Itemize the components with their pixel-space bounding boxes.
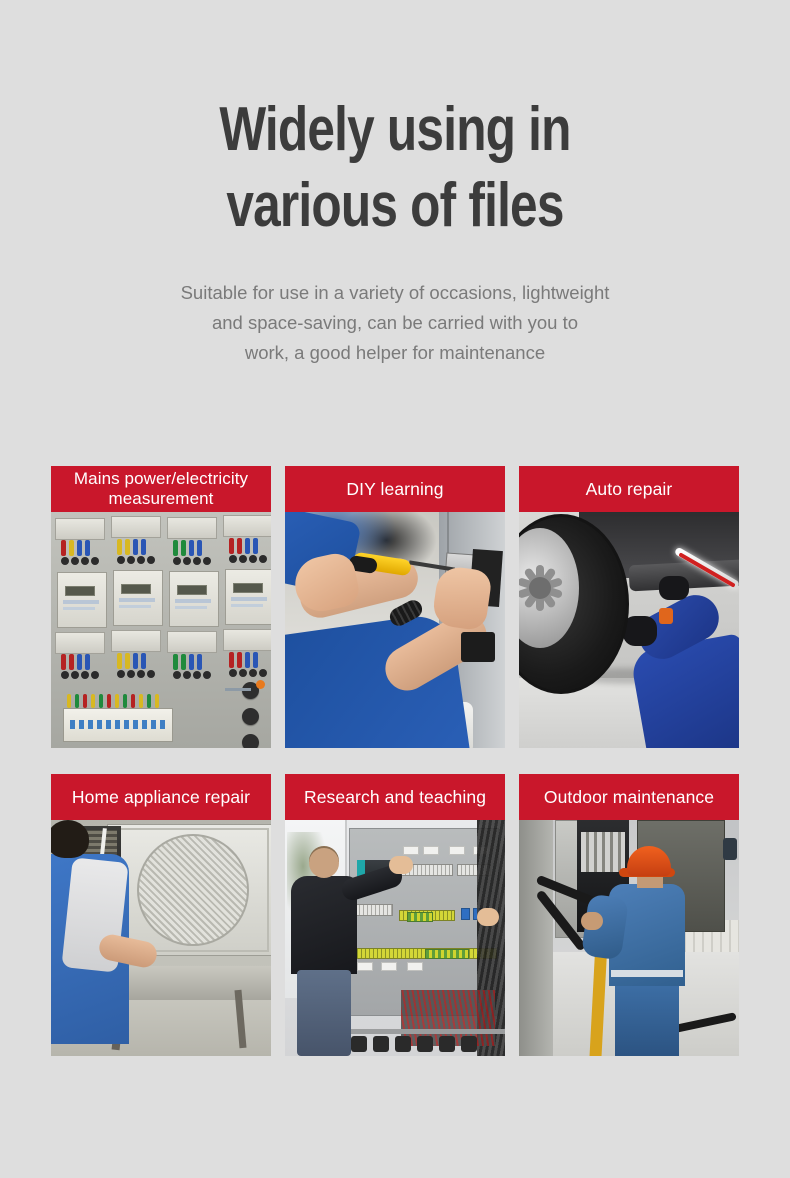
card-label: Auto repair xyxy=(586,479,673,500)
card-home-appliance-repair[interactable]: Home appliance repair xyxy=(51,774,271,1056)
card-banner-research-and-teaching: Research and teaching xyxy=(285,774,505,820)
card-diy-learning[interactable]: DIY learning xyxy=(285,466,505,748)
card-banner-diy-learning: DIY learning xyxy=(285,466,505,512)
card-banner-outdoor-maintenance: Outdoor maintenance xyxy=(519,774,739,820)
card-banner-home-appliance-repair: Home appliance repair xyxy=(51,774,271,820)
card-research-and-teaching[interactable]: Research and teaching xyxy=(285,774,505,1056)
card-label-line-1: Mains power/electricity xyxy=(74,469,248,488)
page-subtitle-line-2: and space-saving, can be carried with yo… xyxy=(0,308,790,338)
card-auto-repair[interactable]: Auto repair xyxy=(519,466,739,748)
page-title-line-2: various of files xyxy=(79,168,711,244)
card-label: DIY learning xyxy=(346,479,443,500)
card-banner-auto-repair: Auto repair xyxy=(519,466,739,512)
page-subtitle-line-3: work, a good helper for maintenance xyxy=(0,338,790,368)
card-photo-research-and-teaching xyxy=(285,820,505,1056)
page-subtitle-line-1: Suitable for use in a variety of occasio… xyxy=(0,278,790,308)
card-label: Research and teaching xyxy=(304,787,486,808)
promo-page: Widely using in various of files Suitabl… xyxy=(0,0,790,1178)
card-banner-mains-power: Mains power/electricity measurement xyxy=(51,466,271,512)
card-photo-mains-power xyxy=(51,512,271,748)
use-case-card-grid: Mains power/electricity measurement xyxy=(51,466,739,1056)
card-photo-diy-learning xyxy=(285,512,505,748)
card-label-line-2: measurement xyxy=(108,489,213,508)
card-outdoor-maintenance[interactable]: Outdoor maintenance xyxy=(519,774,739,1056)
card-photo-outdoor-maintenance xyxy=(519,820,739,1056)
card-label: Outdoor maintenance xyxy=(544,787,714,808)
page-title-line-1: Widely using in xyxy=(79,92,711,168)
card-label: Home appliance repair xyxy=(72,787,250,808)
card-photo-home-appliance-repair xyxy=(51,820,271,1056)
page-header: Widely using in various of files Suitabl… xyxy=(0,0,790,368)
page-subtitle: Suitable for use in a variety of occasio… xyxy=(0,278,790,368)
card-photo-auto-repair xyxy=(519,512,739,748)
card-mains-power-electricity-measurement[interactable]: Mains power/electricity measurement xyxy=(51,466,271,748)
